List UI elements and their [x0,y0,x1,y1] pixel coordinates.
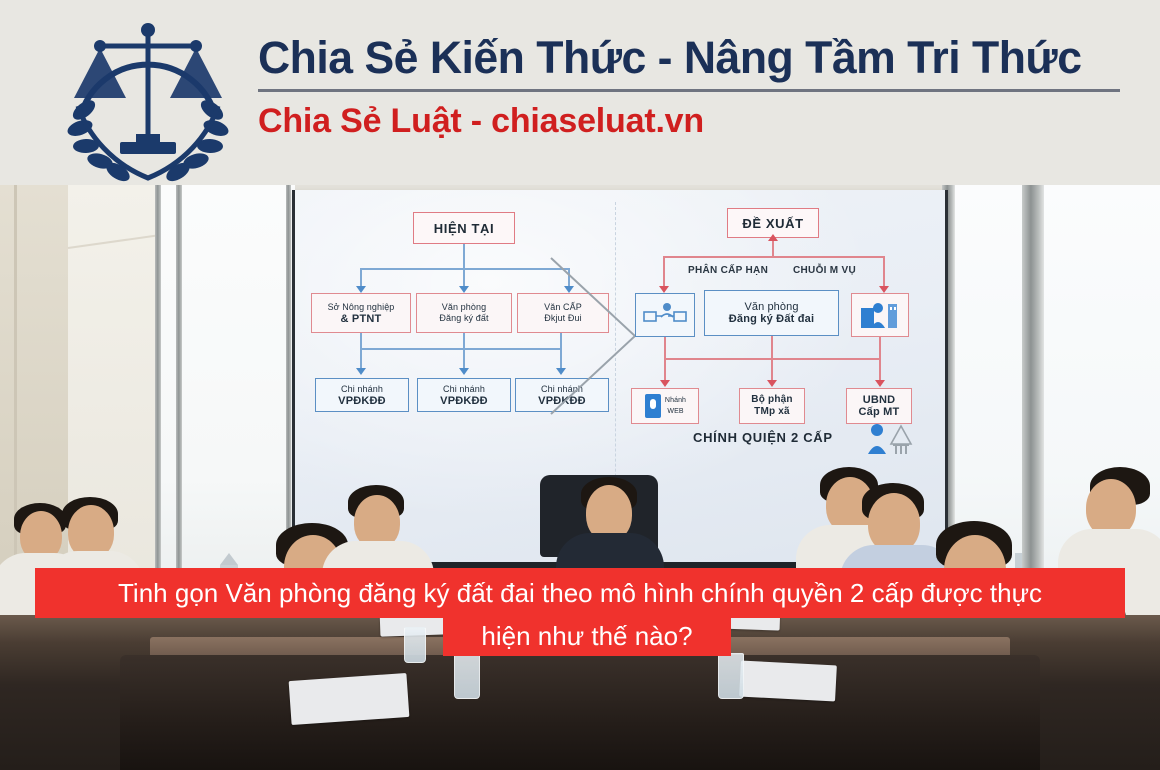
diagram-box: Văn phòng Đăng ký đất [416,293,512,333]
connector [360,348,362,370]
diagram-box: Chi nhánh VPĐKĐĐ [417,378,511,412]
connector [663,256,885,258]
two-tier-government-label: CHÍNH QUIỆN 2 CẤP [693,430,833,445]
connector [771,358,773,382]
diagram-box: Bộ phận TMp xã [739,388,805,424]
connector [663,256,665,288]
arrow-head [660,380,670,387]
papers [739,661,837,702]
site-subtitle: Chia Sẻ Luật - chiaseluat.vn [258,101,1138,141]
connector [879,358,881,382]
connector [664,358,666,382]
office-people-icon [851,293,909,337]
header-divider [258,89,1120,92]
arrow-head [356,286,366,293]
papers [289,673,410,725]
meeting-room-photo: HIỆN TẠI Sở Nông nghiệp & PTNT Văn phòng… [0,185,1160,770]
scales-of-justice-laurel-logo [58,6,238,185]
connector [360,348,562,350]
connector [463,244,465,268]
caption-bar-line-1: Tinh gọn Văn phòng đăng ký đất đai theo … [35,568,1125,618]
caption-text-line-1: Tinh gọn Văn phòng đăng ký đất đai theo … [118,578,1042,608]
arrow-head [875,380,885,387]
header-text-group: Chia Sẻ Kiến Thức - Nâng Tầm Tri Thức Ch… [258,30,1138,141]
diagram-center-box: Văn phòng Đăng ký Đất đai [704,290,839,336]
network-nodes-icon [635,293,695,337]
connector [771,336,773,359]
caption-text-line-2: hiện như thế nào? [481,621,692,651]
arrow-head [879,286,889,293]
water-glass [718,653,744,699]
current-model-title: HIỆN TẠI [413,212,515,244]
connector [463,268,465,288]
chevron-right-arrow [545,252,645,422]
mobile-app-icon [644,393,662,419]
arrow-head [459,368,469,375]
diagram-box: UBND Cấp MT [846,388,912,424]
diagram-label-phan-cap: PHÂN CẤP HẠN [688,265,768,276]
page-root: Chia Sẻ Kiến Thức - Nâng Tầm Tri Thức Ch… [0,0,1160,770]
diagram-box: Sở Nông nghiệp & PTNT [311,293,411,333]
site-title: Chia Sẻ Kiến Thức - Nâng Tầm Tri Thức [258,30,1129,86]
diagram-box: Chi nhánh VPĐKĐĐ [315,378,409,412]
site-header-banner: Chia Sẻ Kiến Thức - Nâng Tầm Tri Thức Ch… [0,0,1160,185]
mobile-app-icon-box: Nhánh WEB [631,388,699,424]
connector [463,348,465,370]
connector [879,337,881,359]
connector [664,337,666,359]
arrow-head [459,286,469,293]
diagram-label-chuoi: CHUỖI M VỤ [793,265,856,276]
connector [463,333,465,349]
connector [883,256,885,288]
person-and-building-icon [865,422,915,456]
arrow-head [356,368,366,375]
arrow-head [659,286,669,293]
head [868,493,920,553]
water-glass [454,653,480,699]
table-surface [120,655,1040,770]
connector [360,333,362,349]
water-glass [404,627,426,663]
arrow-head [767,380,777,387]
connector [360,268,362,288]
connector [360,268,570,270]
arrow-head [768,234,778,241]
caption-bar-line-2: hiện như thế nào? [443,616,731,656]
